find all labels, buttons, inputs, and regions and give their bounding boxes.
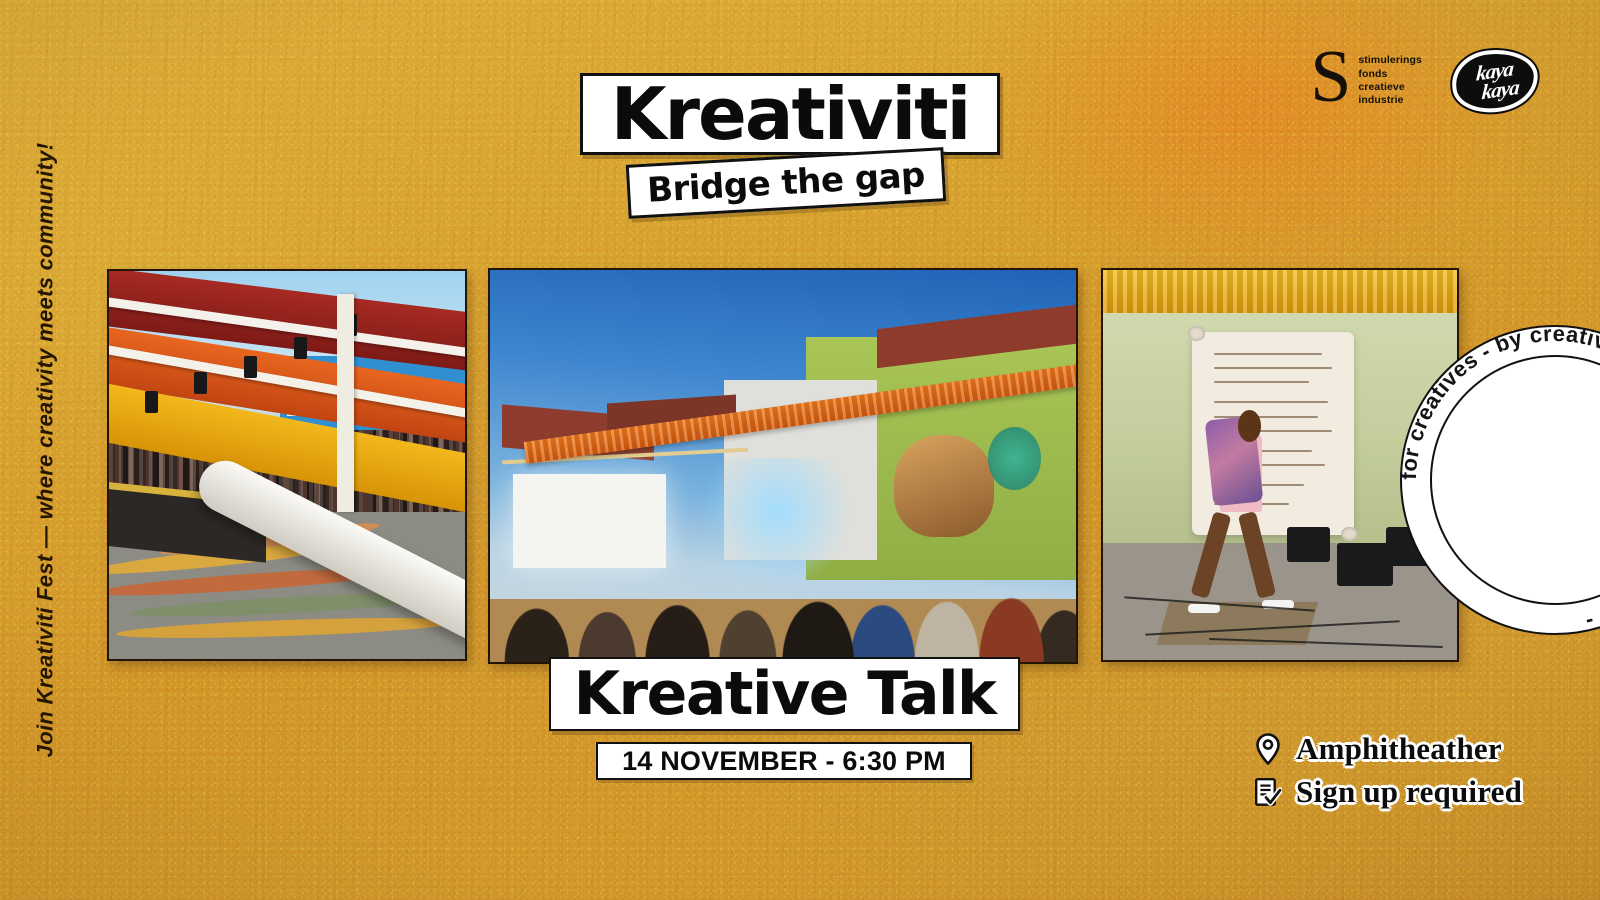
for-creatives-badge: for creatives - by creatives - for creat… bbox=[1385, 310, 1600, 650]
photo-amphitheatre-crowd bbox=[107, 269, 467, 661]
photo-kreative-talk-audience bbox=[488, 268, 1078, 664]
info-item-venue: Amphitheather bbox=[1253, 731, 1522, 767]
vertical-tagline-text: Join Kreativiti Fest — where creativity … bbox=[32, 143, 58, 758]
event-name-box: Kreative Talk bbox=[549, 657, 1020, 731]
sponsor-line-3: creatieve bbox=[1358, 81, 1422, 94]
sponsor-line-2: fonds bbox=[1358, 68, 1422, 81]
sponsor-line-1: stimulerings bbox=[1358, 54, 1422, 67]
photo-2-content bbox=[490, 270, 1076, 662]
sponsor-line-4: industrie bbox=[1358, 94, 1422, 107]
info-item-signup: Sign up required bbox=[1253, 774, 1522, 810]
sponsor-s-mark-icon: S bbox=[1310, 51, 1351, 104]
vertical-tagline: Join Kreativiti Fest — where creativity … bbox=[14, 0, 76, 900]
signup-form-icon bbox=[1253, 775, 1283, 809]
event-info-list: Amphitheather Sign up required bbox=[1253, 731, 1522, 810]
photo-1-content bbox=[109, 271, 465, 659]
event-datetime-box: 14 NOVEMBER - 6:30 PM bbox=[596, 742, 972, 780]
poster-title-box: Kreativiti bbox=[580, 73, 1000, 155]
sponsor-wordmark: stimulerings fonds creatieve industrie bbox=[1358, 54, 1422, 108]
poster-subtitle: Bridge the gap bbox=[646, 158, 925, 207]
page-title: Kreativiti bbox=[611, 78, 970, 150]
kaya-logo-line-2: kaya bbox=[1481, 78, 1519, 103]
event-name: Kreative Talk bbox=[574, 664, 996, 724]
sponsor-logos: S stimulerings fonds creatieve industrie… bbox=[1310, 50, 1538, 112]
venue-label: Amphitheather bbox=[1296, 731, 1502, 767]
stimuleringsfonds-logo: S stimulerings fonds creatieve industrie bbox=[1310, 54, 1422, 108]
kaya-kaya-logo: kaya kaya bbox=[1449, 46, 1540, 115]
event-datetime: 14 NOVEMBER - 6:30 PM bbox=[622, 746, 946, 777]
location-pin-icon bbox=[1253, 732, 1283, 766]
event-poster: Join Kreativiti Fest — where creativity … bbox=[0, 0, 1600, 900]
signup-label: Sign up required bbox=[1296, 774, 1522, 810]
